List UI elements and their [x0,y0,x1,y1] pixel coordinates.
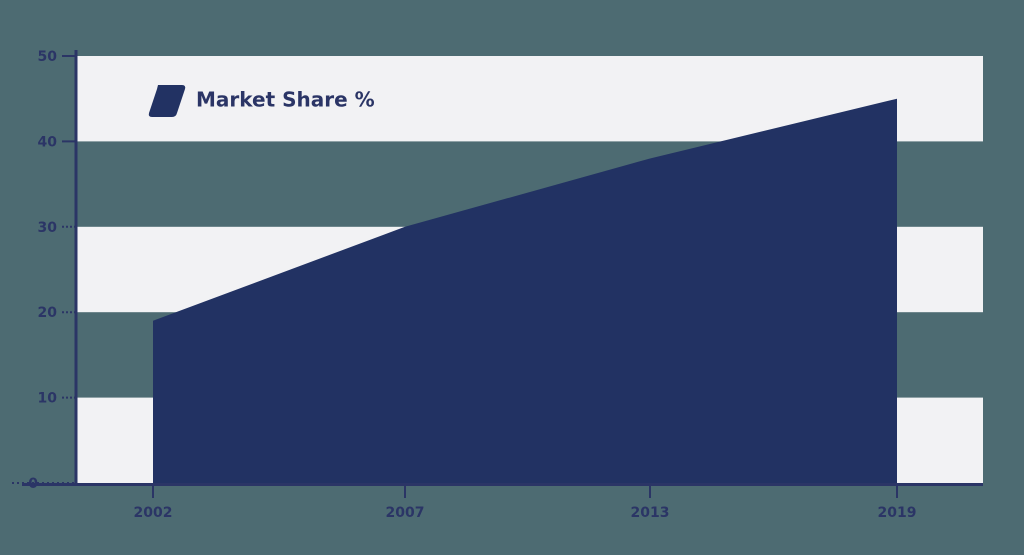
y-axis-label-10: 10 [38,391,58,407]
area-chart: 50 40 30 20 10 0 2002 2007 2013 2019 Mar… [0,0,1024,555]
y-axis-label-30: 30 [38,220,58,236]
chart-canvas: 50 40 30 20 10 0 2002 2007 2013 2019 Mar… [0,0,1024,555]
y-axis-label-0: 0 [28,476,38,492]
x-axis-label-2013: 2013 [631,505,670,521]
x-axis-label-2007: 2007 [386,505,425,521]
y-axis-label-20: 20 [38,305,58,321]
x-axis-label-2019: 2019 [878,505,917,521]
y-axis-label-40: 40 [38,134,58,150]
legend-label-market-share[interactable]: Market Share % [196,88,375,112]
x-axis-label-2002: 2002 [134,505,173,521]
y-axis-label-50: 50 [38,49,58,65]
